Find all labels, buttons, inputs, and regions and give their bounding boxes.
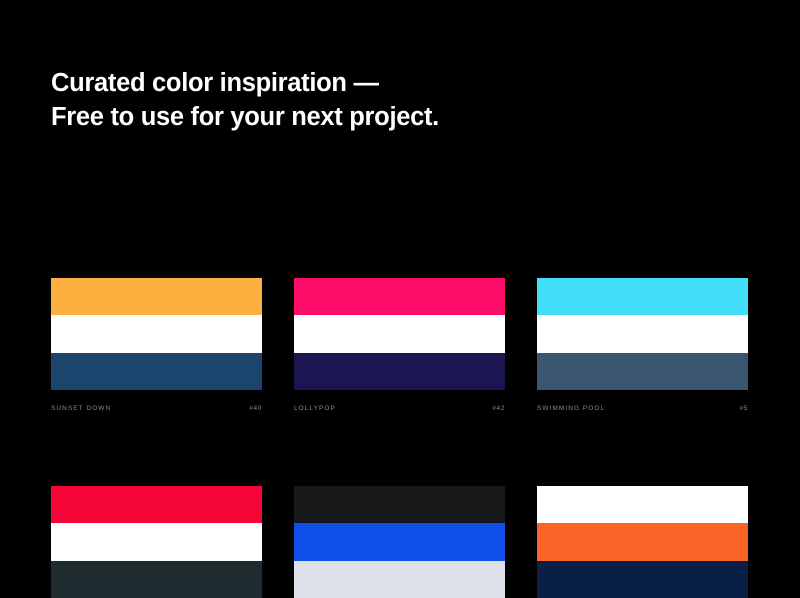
palette-name: LOLLYPOP [294,405,336,412]
color-band[interactable] [294,315,505,352]
palette-name: SUNSET DOWN [51,405,111,412]
palette-name: SWIMMING POOL [537,405,605,412]
color-band[interactable] [51,561,262,598]
color-band[interactable] [294,278,505,315]
color-band[interactable] [294,561,505,598]
palette-gallery-page: Curated color inspiration — Free to use … [0,0,800,589]
color-band[interactable] [537,278,748,315]
color-band[interactable] [537,561,748,598]
heading-line-1: Curated color inspiration — [51,66,691,100]
color-band[interactable] [51,523,262,560]
color-band[interactable] [294,523,505,560]
palette-card[interactable] [51,486,262,598]
palette-number: #40 [249,405,262,412]
palette-swatches[interactable] [537,486,748,598]
color-band[interactable] [51,315,262,352]
palette-number: #5 [740,405,748,412]
color-band[interactable] [537,523,748,560]
palette-card[interactable]: LOLLYPOP#42 [294,278,505,412]
color-band[interactable] [537,486,748,523]
color-band[interactable] [51,486,262,523]
palette-caption: SUNSET DOWN#40 [51,405,262,412]
palette-swatches[interactable] [51,486,262,598]
palette-caption: SWIMMING POOL#5 [537,405,748,412]
palette-grid: SUNSET DOWN#40LOLLYPOP#42SWIMMING POOL#5 [51,278,749,598]
palette-card[interactable]: SWIMMING POOL#5 [537,278,748,412]
palette-number: #42 [492,405,505,412]
color-band[interactable] [294,353,505,390]
palette-swatches[interactable] [51,278,262,390]
page-heading: Curated color inspiration — Free to use … [51,66,691,134]
palette-swatches[interactable] [537,278,748,390]
heading-line-2: Free to use for your next project. [51,100,691,134]
palette-card[interactable] [294,486,505,598]
palette-card[interactable]: SUNSET DOWN#40 [51,278,262,412]
color-band[interactable] [537,353,748,390]
color-band[interactable] [51,278,262,315]
color-band[interactable] [537,315,748,352]
palette-caption: LOLLYPOP#42 [294,405,505,412]
palette-card[interactable] [537,486,748,598]
palette-swatches[interactable] [294,486,505,598]
color-band[interactable] [294,486,505,523]
palette-swatches[interactable] [294,278,505,390]
color-band[interactable] [51,353,262,390]
